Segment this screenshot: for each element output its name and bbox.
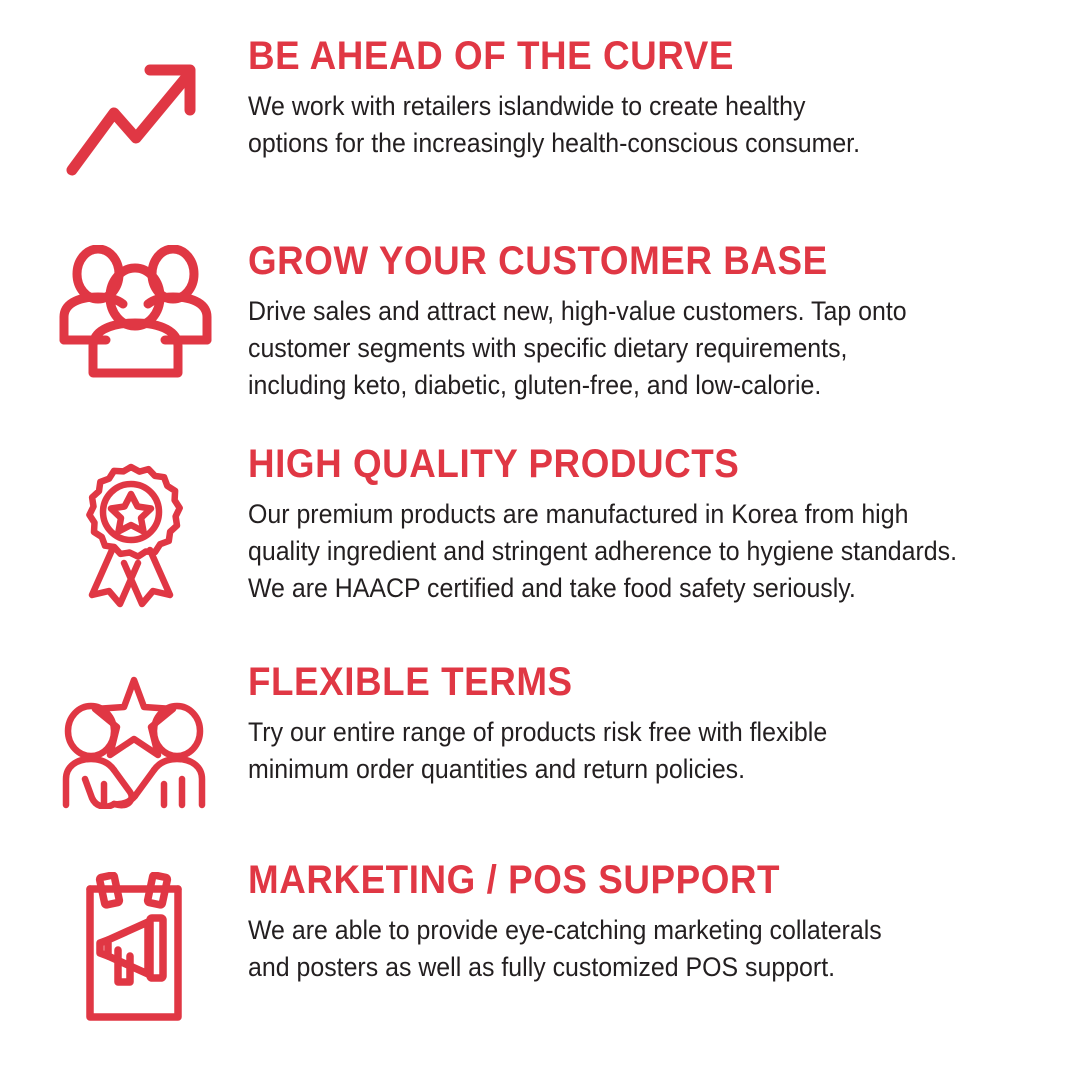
benefit-item: MARKETING / POS SUPPORT We are able to p… (0, 858, 1080, 1058)
benefit-description-line: minimum order quantities and return poli… (248, 751, 1011, 788)
benefit-item: BE AHEAD OF THE CURVE We work with retai… (0, 34, 1080, 239)
benefit-item: HIGH QUALITY PRODUCTS Our premium produc… (0, 442, 1080, 660)
benefit-text-cell: GROW YOUR CUSTOMER BASE Drive sales and … (248, 239, 1080, 404)
benefit-description-line: Our premium products are manufactured in… (248, 496, 1011, 533)
benefit-item: FLEXIBLE TERMS Try our entire range of p… (0, 660, 1080, 858)
handshake-star-icon (58, 674, 210, 809)
benefit-list: BE AHEAD OF THE CURVE We work with retai… (0, 34, 1080, 1058)
award-ribbon-icon (76, 462, 186, 612)
benefit-description: We work with retailers islandwide to cre… (248, 88, 1011, 162)
benefit-description-line: and posters as well as fully customized … (248, 949, 1011, 986)
benefit-icon-cell (0, 858, 248, 1022)
people-group-icon (58, 245, 213, 385)
benefit-title: GROW YOUR CUSTOMER BASE (248, 239, 995, 283)
benefit-description-line: quality ingredient and stringent adheren… (248, 533, 1011, 570)
growth-arrow-icon (62, 50, 202, 180)
benefit-item: GROW YOUR CUSTOMER BASE Drive sales and … (0, 239, 1080, 442)
benefit-description-line: options for the increasingly health-cons… (248, 125, 1011, 162)
poster-megaphone-icon (78, 872, 190, 1022)
benefit-description-line: We work with retailers islandwide to cre… (248, 88, 1011, 125)
benefit-text-cell: BE AHEAD OF THE CURVE We work with retai… (248, 34, 1080, 162)
benefit-title: MARKETING / POS SUPPORT (248, 858, 995, 902)
benefit-title: FLEXIBLE TERMS (248, 660, 995, 704)
benefit-description-line: customer segments with specific dietary … (248, 330, 1011, 367)
benefit-description: Our premium products are manufactured in… (248, 496, 1011, 607)
benefit-title: BE AHEAD OF THE CURVE (248, 34, 995, 78)
benefit-text-cell: HIGH QUALITY PRODUCTS Our premium produc… (248, 442, 1080, 607)
benefit-text-cell: FLEXIBLE TERMS Try our entire range of p… (248, 660, 1080, 788)
benefit-text-cell: MARKETING / POS SUPPORT We are able to p… (248, 858, 1080, 986)
benefit-description-line: Drive sales and attract new, high-value … (248, 293, 1011, 330)
benefits-page: BE AHEAD OF THE CURVE We work with retai… (0, 0, 1080, 1080)
benefit-icon-cell (0, 442, 248, 612)
benefit-description-line: including keto, diabetic, gluten-free, a… (248, 367, 1011, 404)
benefit-icon-cell (0, 239, 248, 385)
benefit-description: We are able to provide eye-catching mark… (248, 912, 1011, 986)
benefit-description: Try our entire range of products risk fr… (248, 714, 1011, 788)
benefit-description-line: We are HAACP certified and take food saf… (248, 570, 1011, 607)
benefit-description: Drive sales and attract new, high-value … (248, 293, 1011, 404)
benefit-icon-cell (0, 34, 248, 180)
benefit-description-line: We are able to provide eye-catching mark… (248, 912, 1011, 949)
benefit-title: HIGH QUALITY PRODUCTS (248, 442, 995, 486)
benefit-icon-cell (0, 660, 248, 809)
benefit-description-line: Try our entire range of products risk fr… (248, 714, 1011, 751)
